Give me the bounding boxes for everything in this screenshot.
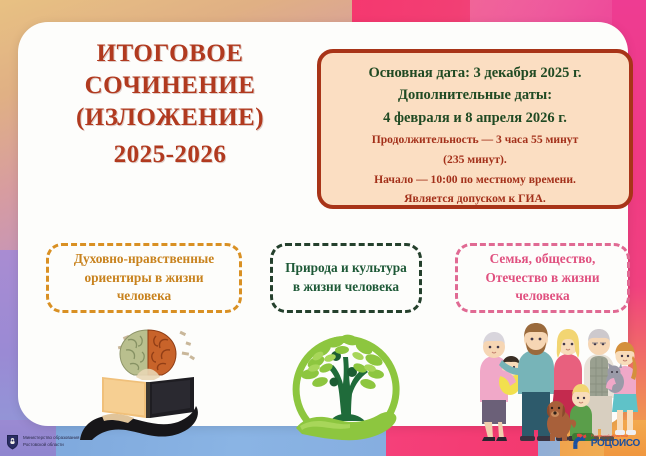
info-duration-minutes: (235 минут). <box>329 151 621 169</box>
theme-pill-nature-culture: Природа и культура в жизни человека <box>270 243 422 313</box>
rostov-coat-of-arms-icon <box>6 434 19 450</box>
brain-book-hand-illustration <box>68 322 228 440</box>
green-tree-hand-illustration <box>280 324 412 442</box>
title-line-2: СОЧИНЕНИЕ <box>40 70 300 102</box>
info-gia-admission: Является допуском к ГИА. <box>329 190 621 208</box>
ministry-logo: Министерство образования Ростовской обла… <box>6 434 79 450</box>
rocoiso-mark-icon <box>571 433 588 451</box>
page-title: ИТОГОВОЕ СОЧИНЕНИЕ (ИЗЛОЖЕНИЕ) 2025-2026 <box>40 38 300 171</box>
family-group-illustration <box>466 320 638 442</box>
rocoiso-logo: Ростовский областной РОЦОИСО <box>571 433 640 451</box>
theme-label-nature-culture: Природа и культура в жизни человека <box>281 259 411 297</box>
title-line-1: ИТОГОВОЕ <box>40 38 300 70</box>
theme-pill-family-society: Семья, общество, Отечество в жизни челов… <box>455 243 630 313</box>
title-years: 2025-2026 <box>40 139 300 171</box>
info-extra-dates-value: 4 февраля и 8 апреля 2026 г. <box>329 107 621 129</box>
title-line-3: (ИЗЛОЖЕНИЕ) <box>40 102 300 134</box>
rocoiso-logo-text: Ростовский областной РОЦОИСО <box>591 435 640 449</box>
info-extra-dates-label: Дополнительные даты: <box>329 84 621 106</box>
theme-pill-spiritual-moral: Духовно-нравственные ориентиры в жизни ч… <box>46 243 242 313</box>
ministry-logo-line-2: Ростовской области <box>23 442 79 449</box>
theme-label-family-society: Семья, общество, Отечество в жизни челов… <box>466 250 619 307</box>
theme-label-spiritual-moral: Духовно-нравственные ориентиры в жизни ч… <box>57 250 231 307</box>
exam-dates-info-box: Основная дата: 3 декабря 2025 г. Дополни… <box>317 49 633 209</box>
ministry-logo-text: Министерство образования Ростовской обла… <box>23 435 79 448</box>
rocoiso-name: РОЦОИСО <box>591 439 640 449</box>
content-card: ИТОГОВОЕ СОЧИНЕНИЕ (ИЗЛОЖЕНИЕ) 2025-2026… <box>18 22 628 426</box>
info-main-date: Основная дата: 3 декабря 2025 г. <box>329 62 621 84</box>
ministry-logo-line-1: Министерство образования <box>23 435 79 442</box>
poster-root: ИТОГОВОЕ СОЧИНЕНИЕ (ИЗЛОЖЕНИЕ) 2025-2026… <box>0 0 646 456</box>
info-duration: Продолжительность — 3 часа 55 минут <box>329 131 621 149</box>
info-start-time: Начало — 10:00 по местному времени. <box>329 171 621 189</box>
